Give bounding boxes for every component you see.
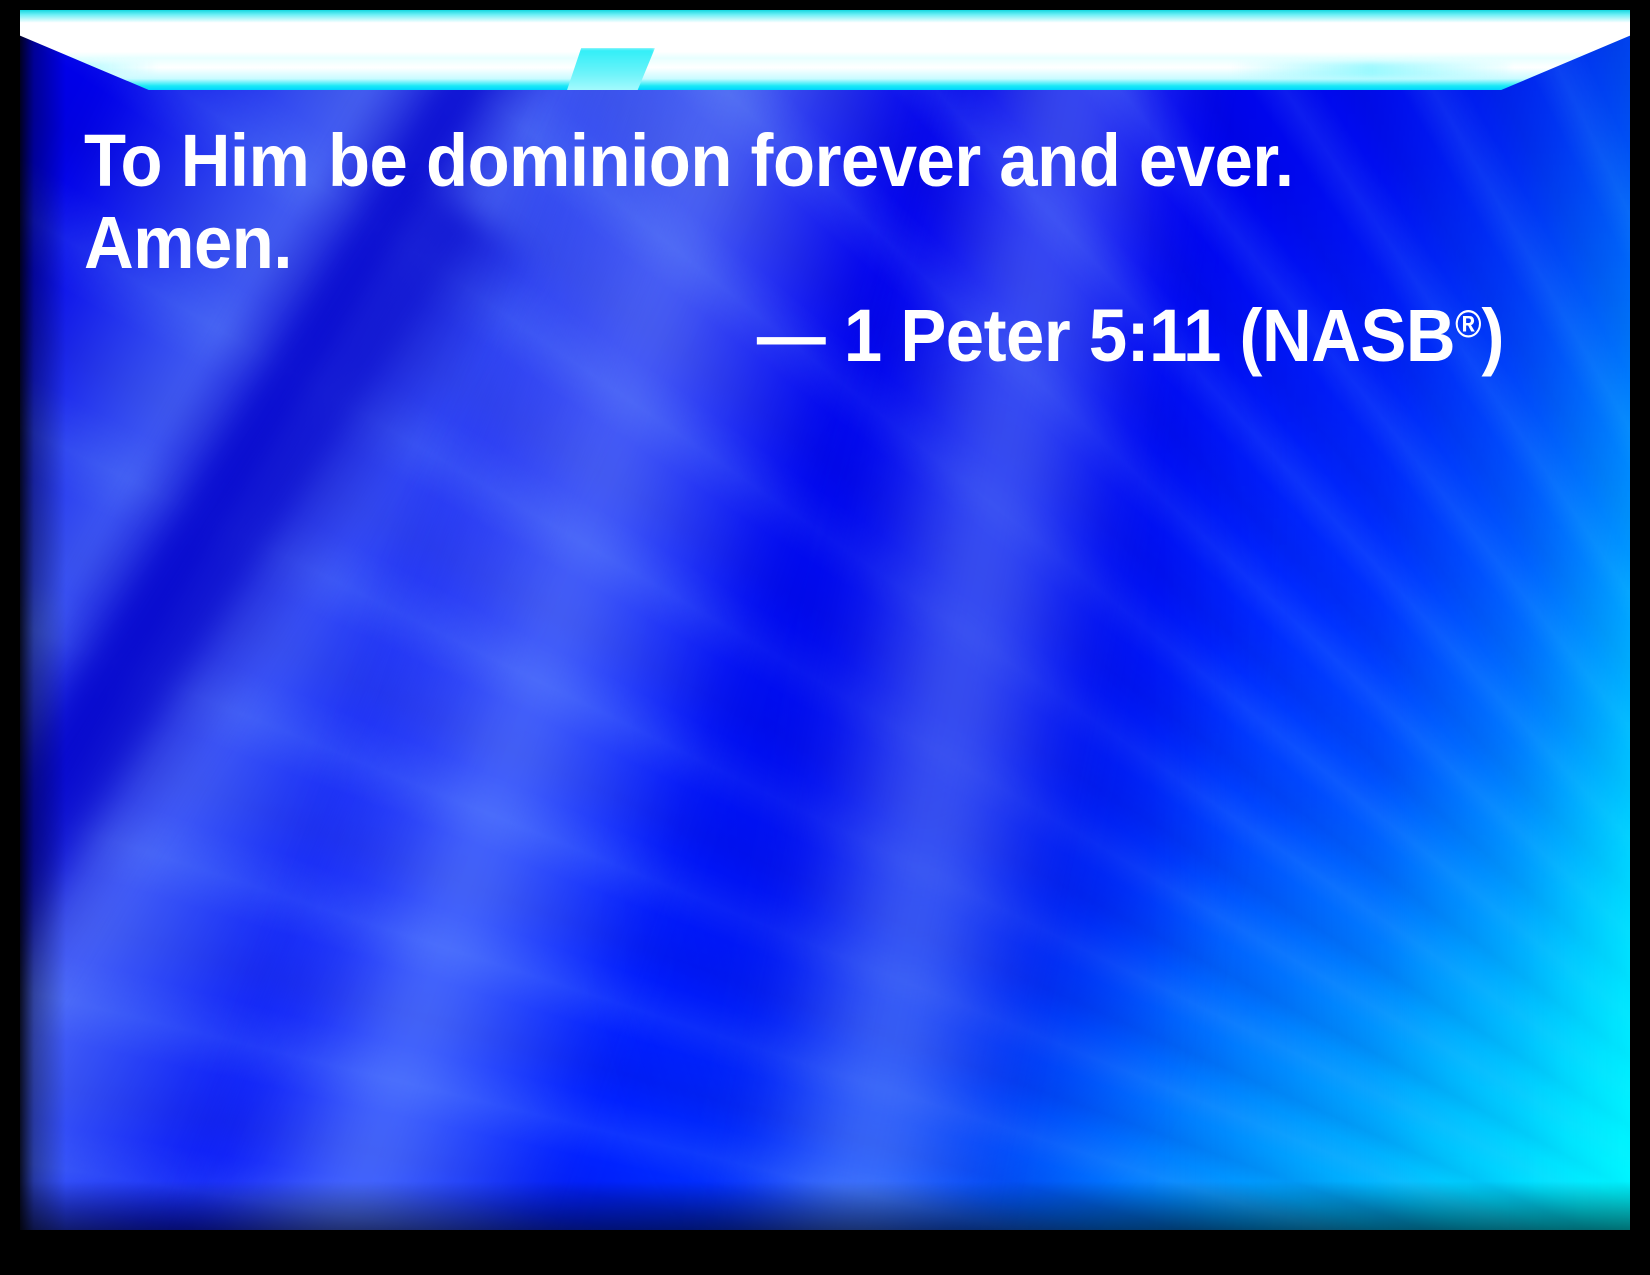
registered-trademark-icon: ® xyxy=(1455,303,1481,346)
citation-reference: — 1 Peter 5:11 (NASB xyxy=(757,294,1455,377)
verse-text: To Him be dominion forever and ever. Ame… xyxy=(84,120,1414,284)
top-decorative-banner xyxy=(20,10,1630,90)
citation-closing-paren: ) xyxy=(1482,294,1504,377)
banner-wisp-right xyxy=(1230,62,1510,78)
verse-citation: — 1 Peter 5:11 (NASB®) xyxy=(183,284,1504,377)
verse-slide: To Him be dominion forever and ever. Ame… xyxy=(0,0,1650,1275)
banner-cyan-notch xyxy=(565,48,655,96)
